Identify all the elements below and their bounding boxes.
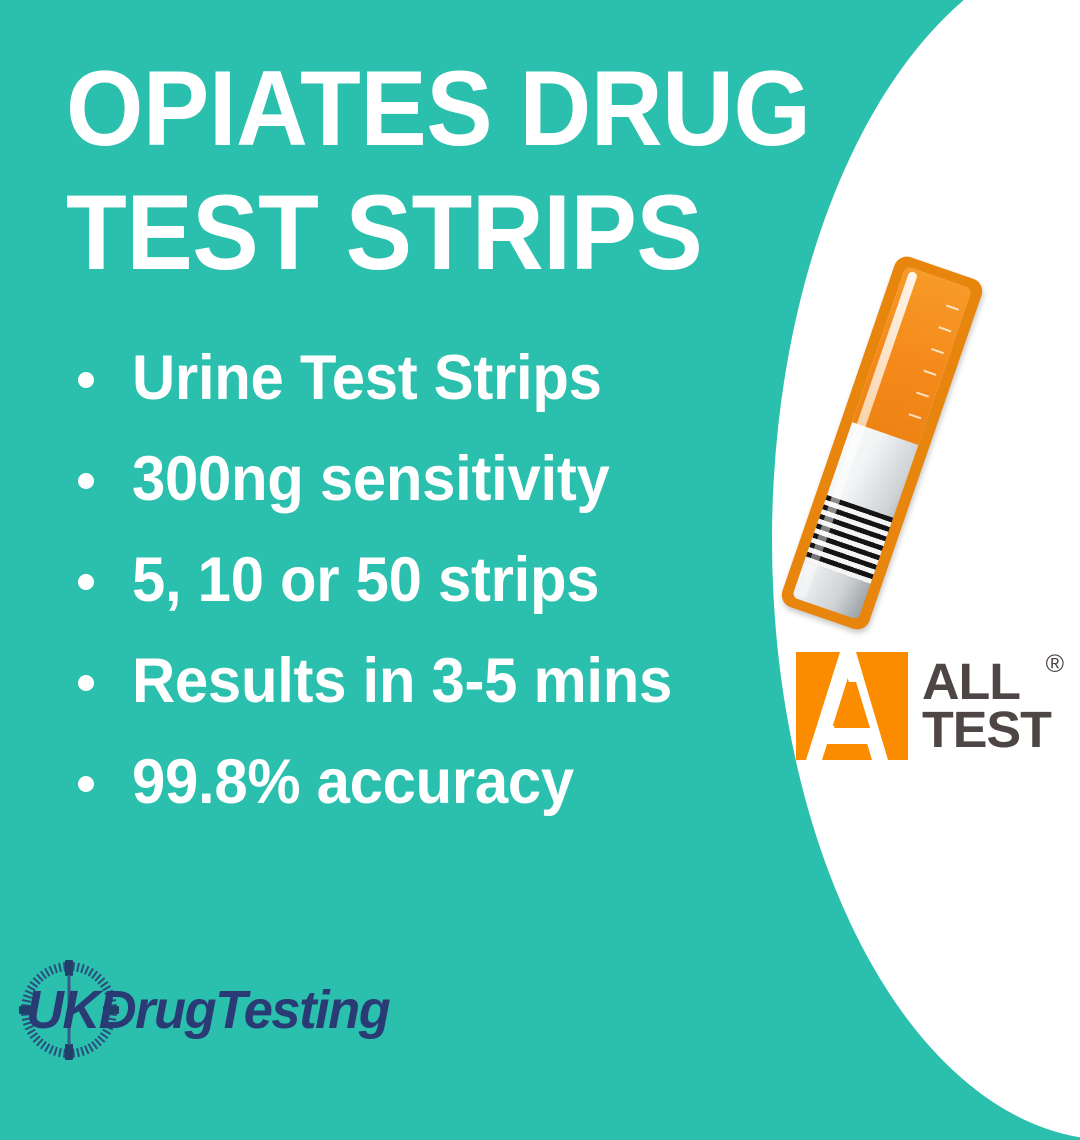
list-item: 99.8% accuracy bbox=[66, 740, 786, 841]
feature-label: 5, 10 or 50 strips bbox=[132, 538, 599, 622]
ukdrugtesting-wordmark: UKDrugTesting bbox=[26, 982, 389, 1038]
bullet-dot-icon bbox=[78, 372, 94, 388]
page-title-line-1: OPIATES DRUG bbox=[66, 46, 754, 170]
bullet-dot-icon bbox=[78, 574, 94, 590]
bullet-dot-icon bbox=[78, 776, 94, 792]
page-title: OPIATES DRUG TEST STRIPS bbox=[66, 46, 806, 294]
ukdrugtesting-logo: UKDrugTesting bbox=[10, 955, 380, 1063]
list-item: 300ng sensitivity bbox=[66, 437, 786, 538]
alltest-a-mark-icon bbox=[796, 652, 908, 760]
list-item: 5, 10 or 50 strips bbox=[66, 538, 786, 639]
list-item: Results in 3-5 mins bbox=[66, 639, 786, 740]
feature-label: 99.8% accuracy bbox=[132, 740, 574, 824]
feature-list: Urine Test Strips 300ng sensitivity 5, 1… bbox=[66, 336, 786, 841]
feature-label: Results in 3-5 mins bbox=[132, 639, 672, 723]
feature-label: 300ng sensitivity bbox=[132, 437, 609, 521]
alltest-logo: ALL TEST ® bbox=[796, 648, 1068, 764]
page-title-line-2: TEST STRIPS bbox=[66, 170, 754, 294]
bullet-dot-icon bbox=[78, 473, 94, 489]
feature-label: Urine Test Strips bbox=[132, 336, 602, 420]
list-item: Urine Test Strips bbox=[66, 336, 786, 437]
registered-trademark-icon: ® bbox=[1046, 652, 1064, 677]
alltest-wordmark-line-2: TEST bbox=[922, 706, 1071, 754]
bullet-dot-icon bbox=[78, 675, 94, 691]
